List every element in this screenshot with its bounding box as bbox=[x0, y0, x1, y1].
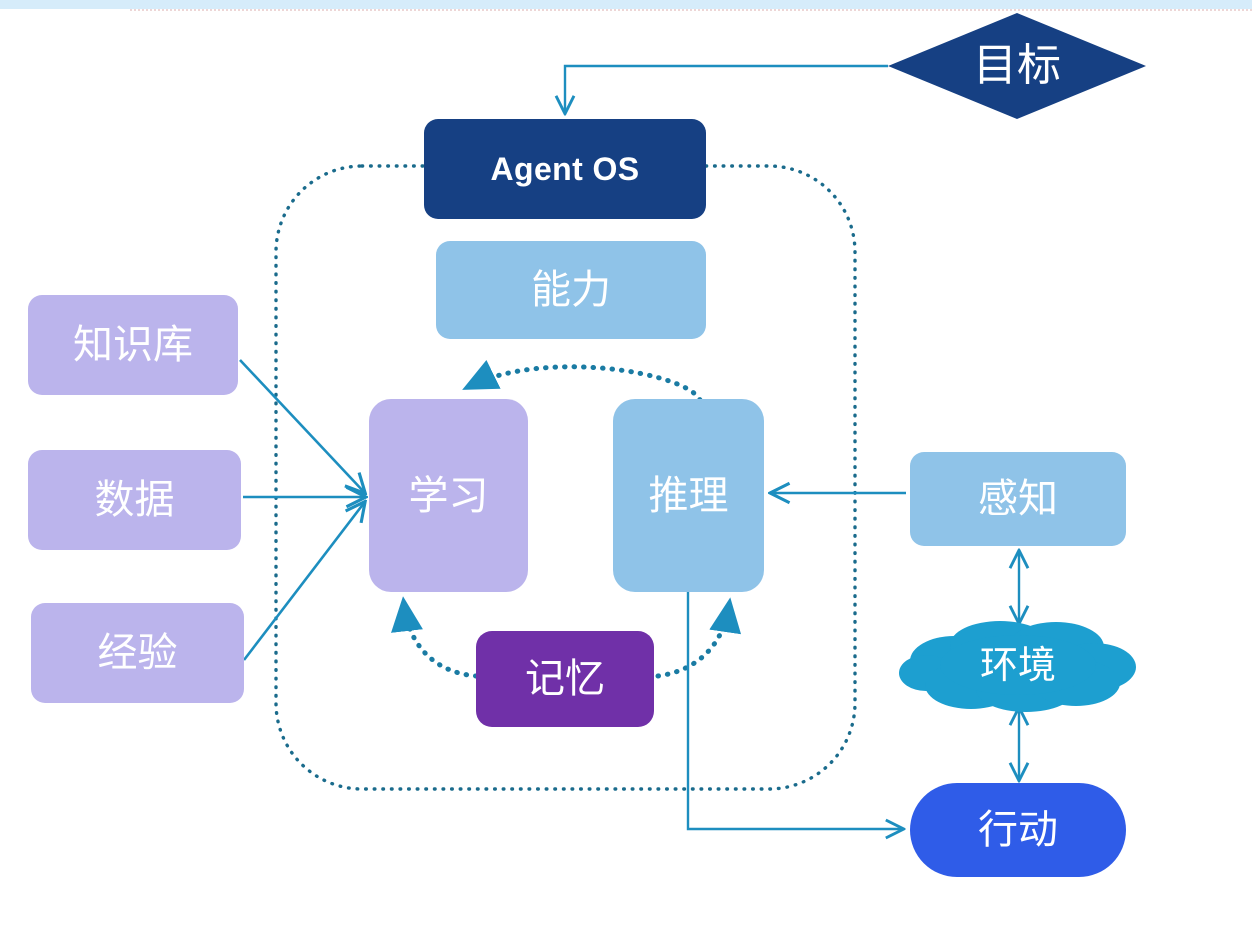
edge-reasoning-to-learning bbox=[470, 367, 700, 400]
node-memory[interactable]: 记忆 bbox=[476, 631, 654, 727]
node-data[interactable]: 数据 bbox=[28, 450, 241, 550]
node-learning[interactable]: 学习 bbox=[369, 399, 528, 592]
node-memory-label: 记忆 bbox=[525, 659, 605, 699]
node-ability[interactable]: 能力 bbox=[436, 241, 706, 339]
node-agent-os-label: Agent OS bbox=[491, 153, 640, 185]
edge-experience-to-learning bbox=[244, 503, 364, 660]
edge-memory-to-learning bbox=[404, 605, 476, 676]
node-action-label: 行动 bbox=[978, 810, 1058, 850]
node-perception-label: 感知 bbox=[978, 479, 1058, 519]
edge-memory-to-reasoning bbox=[658, 606, 729, 676]
node-action[interactable]: 行动 bbox=[910, 783, 1126, 877]
node-perception[interactable]: 感知 bbox=[910, 452, 1126, 546]
top-accent-strip bbox=[0, 0, 1252, 9]
node-agent-os[interactable]: Agent OS bbox=[424, 119, 706, 219]
node-reasoning-label: 推理 bbox=[649, 476, 729, 516]
node-experience[interactable]: 经验 bbox=[31, 603, 244, 703]
node-goal-label: 目标 bbox=[973, 44, 1061, 88]
node-environment[interactable]: 环境 bbox=[896, 617, 1140, 713]
edge-goal-to-agentos bbox=[565, 66, 888, 112]
node-data-label: 数据 bbox=[95, 480, 175, 520]
node-goal[interactable]: 目标 bbox=[888, 13, 1146, 119]
node-knowledge-base-label: 知识库 bbox=[73, 325, 193, 365]
edge-reasoning-to-action bbox=[688, 592, 902, 829]
node-knowledge-base[interactable]: 知识库 bbox=[28, 295, 238, 395]
node-reasoning[interactable]: 推理 bbox=[613, 399, 764, 592]
diagram-canvas: 目标 Agent OS 能力 学习 推理 记忆 知识库 数据 经验 感知 bbox=[0, 0, 1252, 928]
node-learning-label: 学习 bbox=[409, 476, 489, 516]
edge-kb-to-learning bbox=[240, 360, 364, 492]
node-environment-label: 环境 bbox=[980, 646, 1056, 684]
node-ability-label: 能力 bbox=[531, 270, 611, 310]
node-experience-label: 经验 bbox=[98, 633, 178, 673]
